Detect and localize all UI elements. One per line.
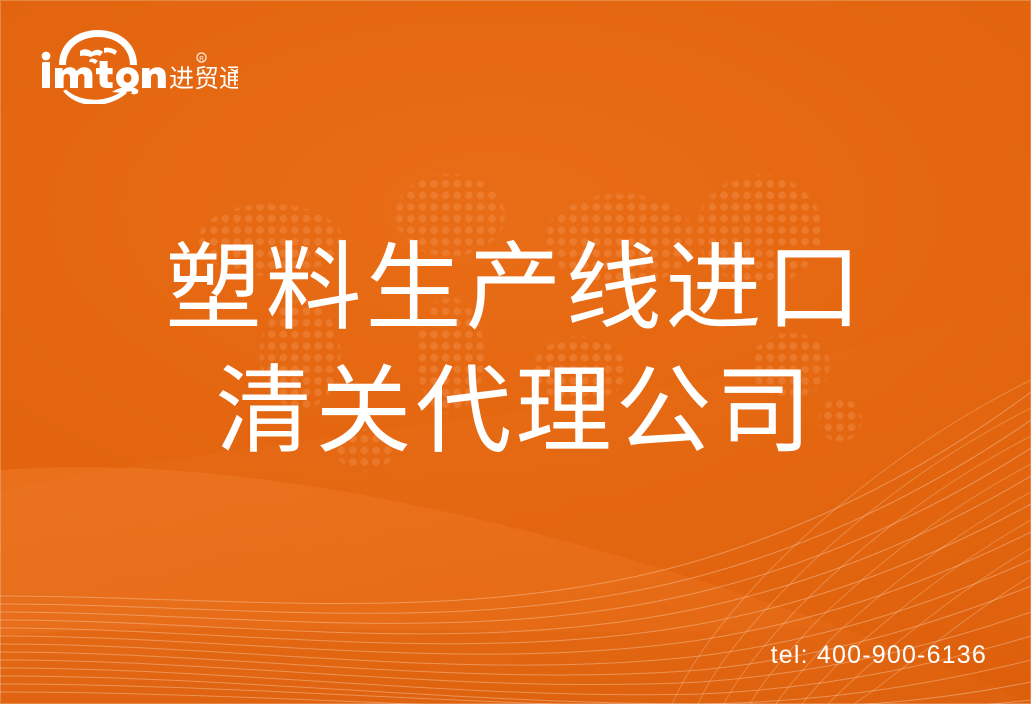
registered-trademark-icon: R <box>197 53 206 63</box>
svg-text:R: R <box>199 55 204 62</box>
headline-line-1: 塑料生产线进口 <box>0 228 1031 351</box>
contact-telephone[interactable]: tel: 400-900-6136 <box>771 641 987 670</box>
promo-banner: 进贸通 R 塑料生产线进口 清关代理公司 tel: 400-900-6136 <box>0 0 1031 704</box>
logo[interactable]: 进贸通 R <box>38 26 238 104</box>
logo-artwork: 进贸通 R <box>38 26 238 104</box>
logo-chinese-name: 进贸通 <box>169 65 238 93</box>
page-title: 塑料生产线进口 清关代理公司 <box>0 228 1031 474</box>
headline-line-2: 清关代理公司 <box>0 351 1031 474</box>
globe-arc-icon <box>59 30 137 65</box>
swoosh-arrow-icon <box>63 87 139 104</box>
